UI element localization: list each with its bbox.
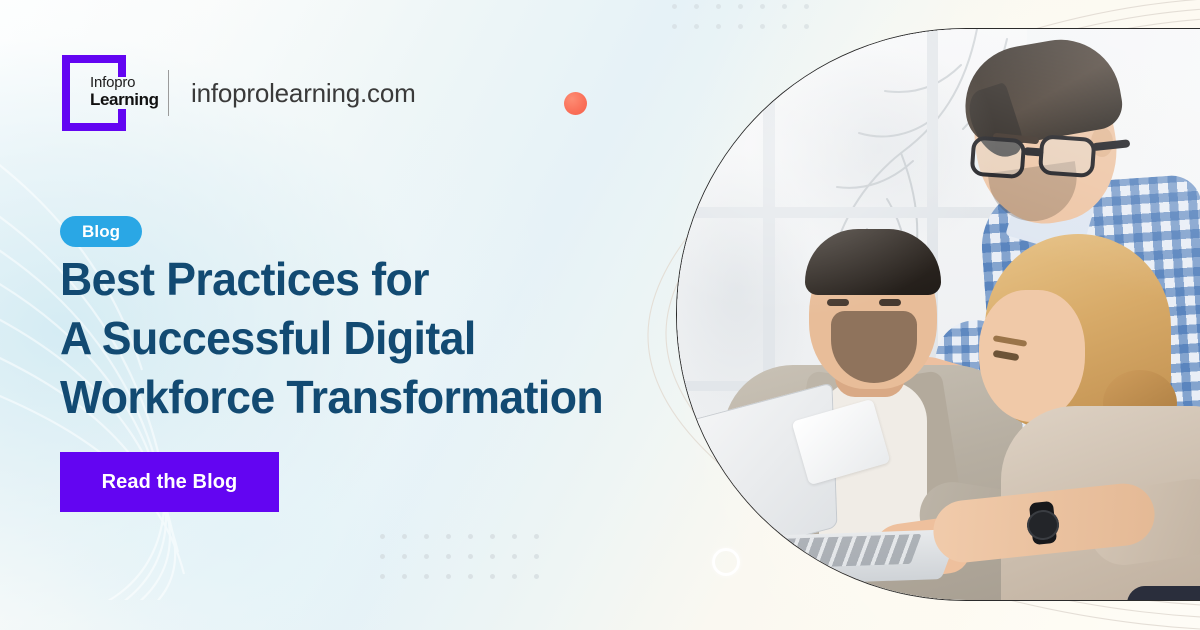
category-badge-blog[interactable]: Blog [60, 216, 142, 247]
blog-promo-banner: Infopro Learning infoprolearning.com Blo… [0, 0, 1200, 630]
content-column: Infopro Learning infoprolearning.com Blo… [60, 0, 700, 630]
logo-wordmark: Infopro Learning [90, 75, 159, 110]
page-title: Best Practices for A Successful Digital … [60, 250, 681, 427]
infopro-learning-logo[interactable]: Infopro Learning [60, 55, 146, 131]
logo-line-2: Learning [90, 91, 159, 109]
hero-photo-panel [676, 28, 1200, 601]
headline-line-1: Best Practices for [60, 250, 681, 309]
person-woman [977, 234, 1200, 601]
brand-divider [168, 70, 169, 116]
logo-line-1: Infopro [90, 75, 159, 91]
website-url[interactable]: infoprolearning.com [191, 78, 416, 109]
office-photo [677, 29, 1200, 600]
brand-bar[interactable]: Infopro Learning infoprolearning.com [60, 55, 416, 131]
headline-line-2: A Successful Digital [60, 309, 681, 368]
headline-line-3: Workforce Transformation [60, 368, 681, 427]
read-the-blog-button[interactable]: Read the Blog [60, 452, 279, 512]
eyeglasses-icon [963, 121, 1137, 195]
